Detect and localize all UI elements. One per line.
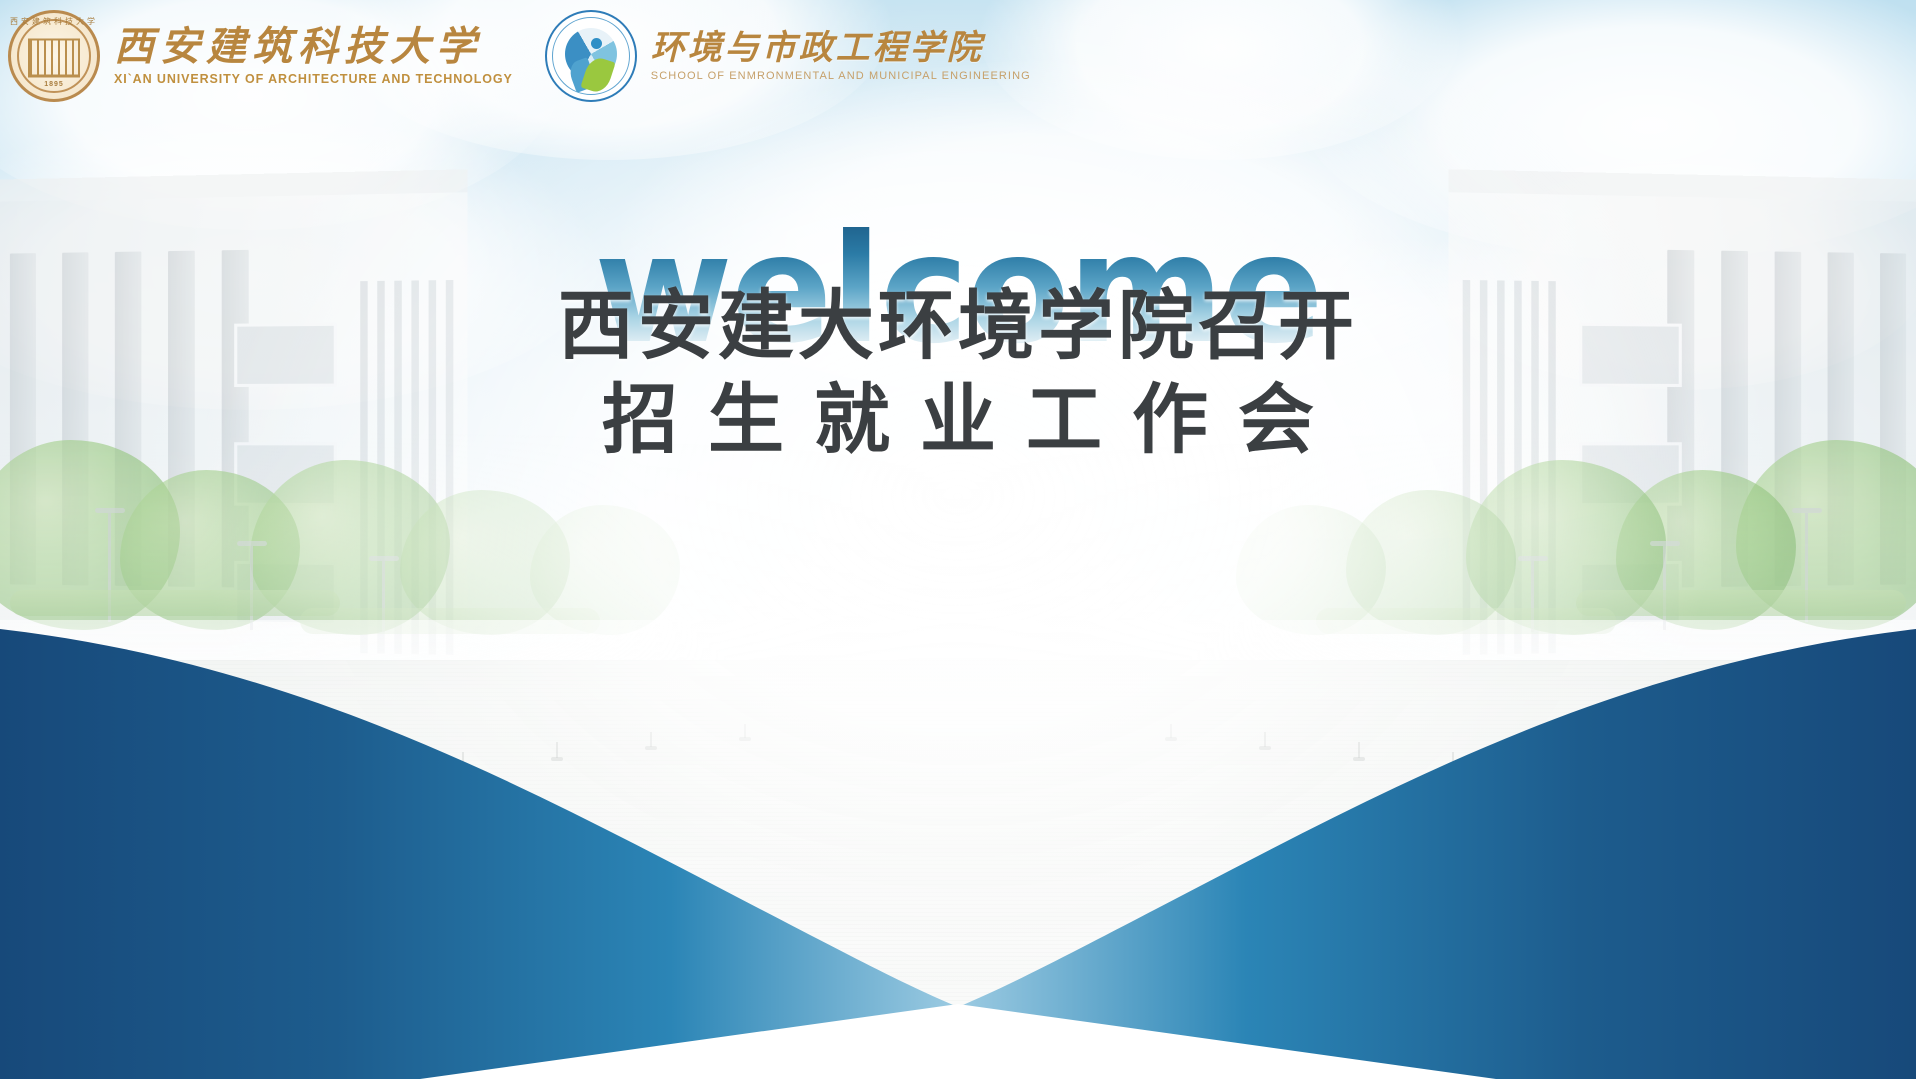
school-emblem-icon [545, 10, 637, 102]
school-name-cn: 环境与市政工程学院 [651, 31, 1031, 65]
header-logo-bar: 西安建筑科技大学 1895 西安建筑科技大学 XI`AN UNIVERSITY … [0, 0, 1031, 112]
seal-year-label: 1895 [8, 81, 100, 88]
university-name-cn: 西安建筑科技大学 [114, 27, 513, 67]
blue-wave-footer [0, 609, 1916, 1079]
seal-building-icon [28, 38, 80, 77]
school-name-block: 环境与市政工程学院 SCHOOL OF ENMRONMENTAL AND MUN… [651, 31, 1031, 82]
hero-title-block: welcome 西安建大环境学院召开 招生就业工作会 [0, 215, 1916, 458]
seal-arc-text: 西安建筑科技大学 [10, 16, 98, 27]
university-name-en: XI`AN UNIVERSITY OF ARCHITECTURE AND TEC… [114, 72, 513, 86]
emblem-dot [591, 38, 602, 49]
school-name-en: SCHOOL OF ENMRONMENTAL AND MUNICIPAL ENG… [651, 70, 1031, 82]
poster-banner: 西安建筑科技大学 1895 西安建筑科技大学 XI`AN UNIVERSITY … [0, 0, 1916, 1079]
poster-title-line-1: 西安建大环境学院召开 [0, 287, 1916, 365]
university-name-block: 西安建筑科技大学 XI`AN UNIVERSITY OF ARCHITECTUR… [114, 27, 513, 86]
school-logo-lockup[interactable]: 环境与市政工程学院 SCHOOL OF ENMRONMENTAL AND MUN… [537, 10, 1031, 102]
xauat-seal-icon: 西安建筑科技大学 1895 [8, 10, 100, 102]
poster-title-line-2: 招生就业工作会 [0, 381, 1916, 459]
university-logo-lockup[interactable]: 西安建筑科技大学 1895 西安建筑科技大学 XI`AN UNIVERSITY … [0, 10, 513, 102]
